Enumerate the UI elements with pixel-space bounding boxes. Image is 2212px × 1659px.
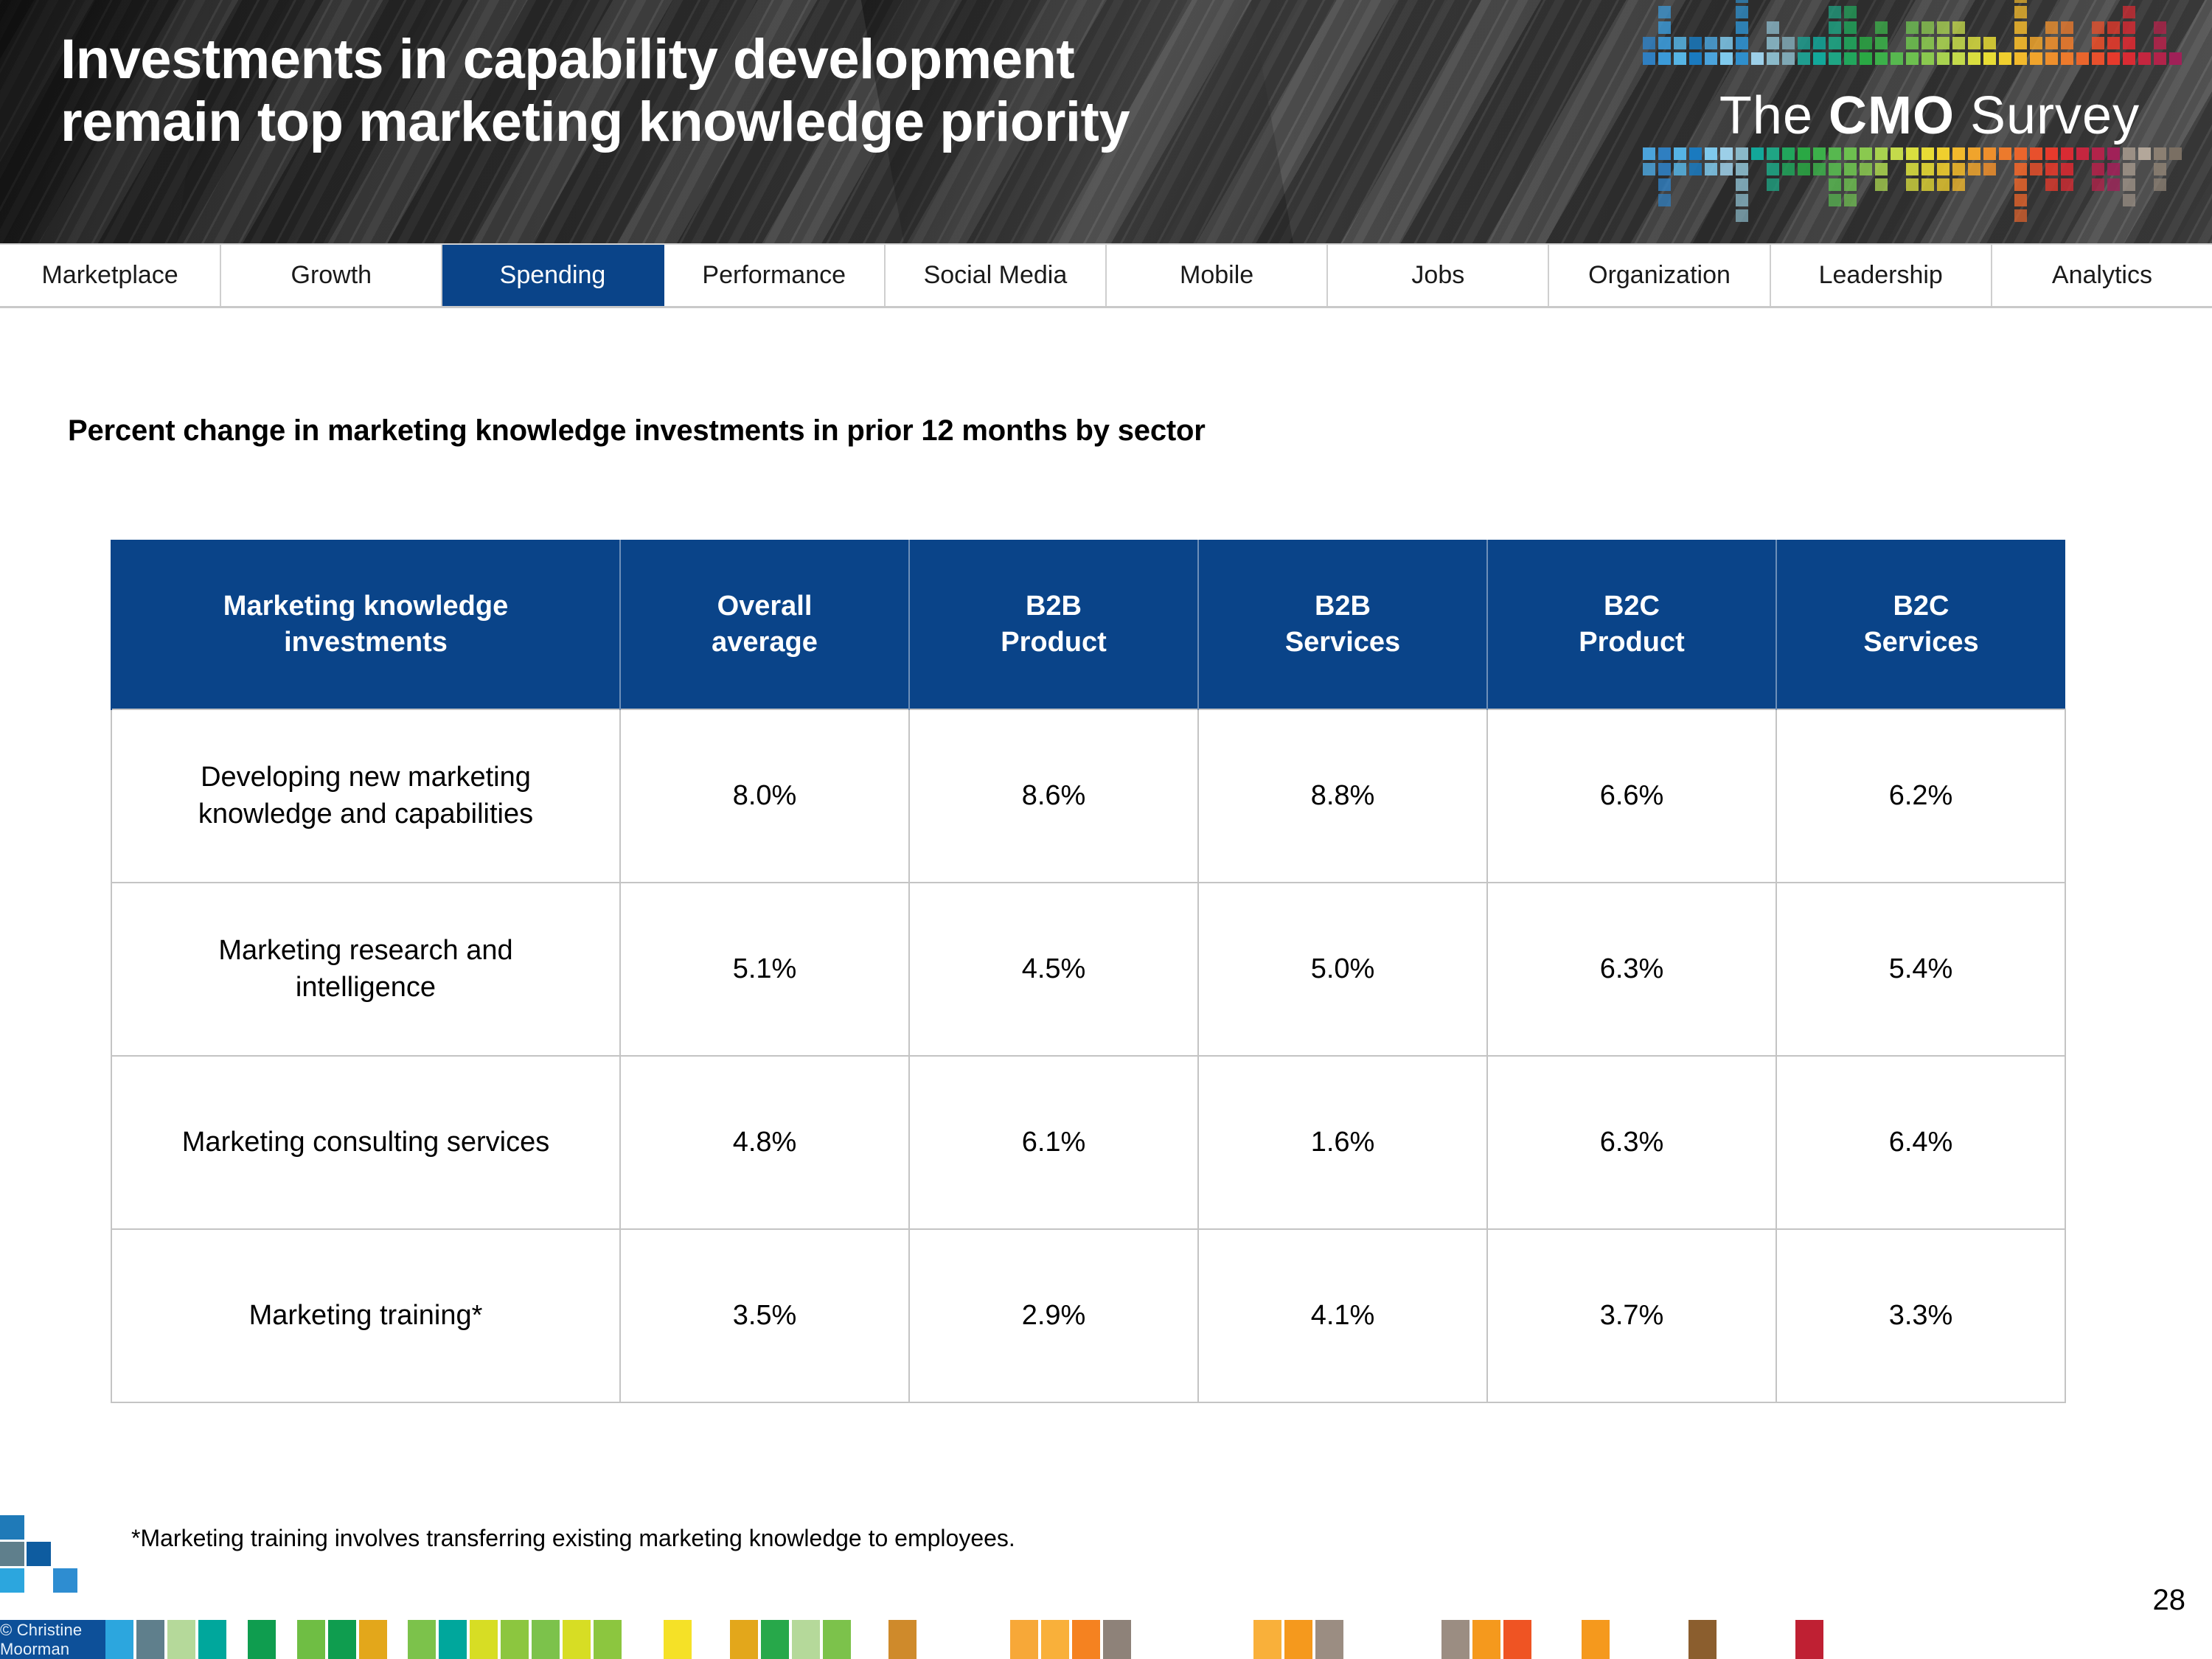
logo-pixel	[1658, 194, 1671, 206]
logo-pixel	[2092, 163, 2104, 175]
nav-tab-mobile[interactable]: Mobile	[1107, 245, 1328, 306]
logo-pixel	[1875, 21, 1888, 34]
logo-pixel	[1767, 178, 1779, 191]
table-cell-value: 3.7%	[1487, 1229, 1776, 1402]
logo-pixel	[2154, 21, 2166, 34]
logo-pixel	[1767, 163, 1779, 175]
color-bar-segment	[594, 1620, 622, 1659]
brand-square	[0, 1515, 24, 1540]
logo-pixel	[2154, 37, 2166, 49]
logo-pixel	[1658, 147, 1671, 160]
table-col-header-0: Marketing knowledge investments	[111, 540, 620, 709]
color-bar-segment	[501, 1620, 529, 1659]
logo-pixel	[1782, 163, 1795, 175]
table-row-label: Marketing consulting services	[111, 1056, 620, 1229]
logo-pixel	[1829, 178, 1841, 191]
nav-tab-marketplace[interactable]: Marketplace	[0, 245, 221, 306]
logo-pixel	[1736, 0, 1748, 3]
logo-pixel	[2092, 37, 2104, 49]
logo-pixel	[2045, 163, 2058, 175]
logo-pixel	[2045, 37, 2058, 49]
logo-pixel	[1891, 147, 1903, 160]
table-row: Marketing research and intelligence5.1%4…	[111, 883, 2065, 1056]
logo-pixel	[1736, 37, 1748, 49]
logo-pixel	[2030, 37, 2042, 49]
logo-pixel	[1689, 37, 1702, 49]
color-bar-segment	[408, 1620, 436, 1659]
logo-pixel	[1952, 21, 1965, 34]
logo-pixel	[1968, 163, 1980, 175]
logo-pixel	[1860, 147, 1872, 160]
logo-pixel	[1674, 37, 1686, 49]
logo-pixel	[1658, 6, 1671, 18]
logo-pixel	[1736, 178, 1748, 191]
copyright-badge: © Christine Moorman	[0, 1620, 105, 1659]
logo-pixel	[1829, 147, 1841, 160]
logo-pixel	[1875, 178, 1888, 191]
logo-pixel	[1720, 52, 1733, 65]
logo-pixel	[1829, 37, 1841, 49]
logo-pixel	[1906, 178, 1919, 191]
logo-pixel	[1844, 163, 1857, 175]
logo-pixel	[1736, 6, 1748, 18]
logo-pixel	[2076, 147, 2089, 160]
color-bar-segment	[1284, 1620, 1312, 1659]
nav-tab-label: Performance	[702, 261, 846, 290]
logo-pixel	[2014, 37, 2027, 49]
logo-pixel	[2123, 178, 2135, 191]
brand-square	[0, 1568, 24, 1593]
logo-pixel	[1906, 21, 1919, 34]
logo-pixel	[2107, 178, 2120, 191]
table-cell-value: 5.1%	[620, 883, 909, 1056]
color-bar-segment	[328, 1620, 356, 1659]
color-bar-segment	[359, 1620, 387, 1659]
logo-pixel	[1844, 37, 1857, 49]
logo-pixel	[1844, 194, 1857, 206]
color-bar-segment	[439, 1620, 467, 1659]
table-head: Marketing knowledge investmentsOverall a…	[111, 540, 2065, 709]
logo-pixel	[1860, 163, 1872, 175]
logo-pixel	[2169, 147, 2182, 160]
logo-pixel	[1689, 147, 1702, 160]
color-bar-segment	[1253, 1620, 1281, 1659]
color-bar-segment	[1472, 1620, 1500, 1659]
logo-pixel	[1705, 147, 1717, 160]
logo-pixel	[1674, 52, 1686, 65]
bottom-color-bar-decoration	[0, 1620, 2212, 1659]
logo-pixel	[1705, 37, 1717, 49]
color-bar-segment	[470, 1620, 498, 1659]
nav-tab-label: Marketplace	[42, 261, 178, 290]
color-bar-segment	[1103, 1620, 1131, 1659]
color-bar-segment	[1582, 1620, 1610, 1659]
brand-squares-decoration	[0, 1515, 103, 1618]
logo-pixel	[1658, 37, 1671, 49]
color-bar-segment	[1315, 1620, 1343, 1659]
logo-pixel	[1952, 178, 1965, 191]
nav-tab-label: Analytics	[2052, 261, 2152, 290]
logo-pixel	[2061, 52, 2073, 65]
nav-tab-jobs[interactable]: Jobs	[1328, 245, 1549, 306]
table-cell-value: 6.3%	[1487, 1056, 1776, 1229]
logo-pixel	[1875, 163, 1888, 175]
logo-pixel	[2014, 178, 2027, 191]
logo-pixel	[2061, 147, 2073, 160]
logo-pixel	[1813, 52, 1826, 65]
marketing-knowledge-investments-table: Marketing knowledge investmentsOverall a…	[111, 540, 2066, 1403]
logo-pixel	[2014, 163, 2027, 175]
logo-pixel	[1983, 163, 1996, 175]
color-bar-segment	[761, 1620, 789, 1659]
logo-pixel	[2030, 52, 2042, 65]
logo-pixel	[1658, 163, 1671, 175]
logo-pixel	[1921, 37, 1934, 49]
brand-square	[53, 1568, 77, 1593]
logo-pixel	[1983, 147, 1996, 160]
logo-pixel	[1798, 37, 1810, 49]
logo-pixel	[2092, 52, 2104, 65]
logo-pixel	[2123, 163, 2135, 175]
logo-pixel	[1937, 37, 1950, 49]
logo-pixel	[1999, 52, 2011, 65]
logo-pixel	[1798, 147, 1810, 160]
table-cell-value: 4.1%	[1198, 1229, 1487, 1402]
color-bar-segment	[664, 1620, 692, 1659]
table-cell-value: 6.1%	[909, 1056, 1198, 1229]
table-header-row: Marketing knowledge investmentsOverall a…	[111, 540, 2065, 709]
table-col-header-5: B2C Services	[1776, 540, 2065, 709]
logo-pixel	[2123, 21, 2135, 34]
logo-pixel	[1875, 37, 1888, 49]
logo-pixel	[2138, 52, 2151, 65]
logo-pixel	[1983, 52, 1996, 65]
color-bar-segment	[1688, 1620, 1717, 1659]
table-row-label: Marketing research and intelligence	[111, 883, 620, 1056]
table-row-label: Developing new marketing knowledge and c…	[111, 709, 620, 883]
logo-pixel	[2092, 147, 2104, 160]
logo-pixel	[1782, 37, 1795, 49]
table-col-header-3: B2B Services	[1198, 540, 1487, 709]
color-bar-segment	[823, 1620, 851, 1659]
nav-tab-analytics[interactable]: Analytics	[1992, 245, 2212, 306]
logo-pixel	[1952, 147, 1965, 160]
logo-wordmark: The CMO Survey	[1660, 86, 2199, 146]
logo-pixel	[1921, 147, 1934, 160]
color-bar-segment	[1441, 1620, 1470, 1659]
color-bar-segment	[730, 1620, 758, 1659]
footnote: *Marketing training involves transferrin…	[131, 1525, 1015, 1552]
logo-prefix: The	[1719, 86, 1829, 145]
color-bar-segment	[532, 1620, 560, 1659]
logo-pixel	[1937, 178, 1950, 191]
color-bar-segment	[792, 1620, 820, 1659]
nav-tab-label: Jobs	[1411, 261, 1464, 290]
color-bar-segment	[198, 1620, 226, 1659]
brand-square	[0, 1542, 24, 1566]
logo-pixel	[1658, 178, 1671, 191]
color-bar-segment	[248, 1620, 276, 1659]
logo-pixel	[2014, 147, 2027, 160]
logo-pixel	[1906, 52, 1919, 65]
logo-pixel	[1798, 52, 1810, 65]
color-bar-segment	[1795, 1620, 1823, 1659]
table-cell-value: 6.4%	[1776, 1056, 2065, 1229]
section-nav-tabs: MarketplaceGrowthSpendingPerformanceSoci…	[0, 243, 2212, 308]
table-cell-value: 3.3%	[1776, 1229, 2065, 1402]
logo-pixel	[1844, 52, 1857, 65]
table-cell-value: 5.4%	[1776, 883, 2065, 1056]
logo-pixel	[1736, 163, 1748, 175]
logo-pixel	[1705, 52, 1717, 65]
logo-pixel	[2123, 147, 2135, 160]
color-bar-segment	[1503, 1620, 1531, 1659]
logo-pixel	[1844, 21, 1857, 34]
table-cell-value: 4.5%	[909, 883, 1198, 1056]
logo-pixel	[2092, 21, 2104, 34]
logo-pixel	[1643, 147, 1655, 160]
color-bar-segment	[105, 1620, 133, 1659]
table-cell-value: 2.9%	[909, 1229, 1198, 1402]
nav-tab-label: Leadership	[1819, 261, 1943, 290]
logo-pixel	[1720, 147, 1733, 160]
logo-pixel	[1829, 52, 1841, 65]
logo-pixel	[2107, 21, 2120, 34]
cmo-survey-logo: The CMO Survey	[1643, 3, 2203, 239]
logo-pixel	[1829, 21, 1841, 34]
logo-pixel	[1736, 147, 1748, 160]
header-banner: Investments in capability development re…	[0, 0, 2212, 243]
logo-pixel	[1767, 147, 1779, 160]
color-bar-segment	[1010, 1620, 1038, 1659]
table-cell-value: 6.2%	[1776, 709, 2065, 883]
logo-pixel	[2014, 6, 2027, 18]
logo-pixel	[1937, 147, 1950, 160]
logo-pixel	[2123, 52, 2135, 65]
color-bar-segment	[1041, 1620, 1069, 1659]
table-cell-value: 5.0%	[1198, 883, 1487, 1056]
logo-pixel	[1875, 147, 1888, 160]
logo-pixel	[2061, 21, 2073, 34]
logo-pixel	[1736, 209, 1748, 222]
logo-pixel	[2045, 147, 2058, 160]
logo-pixel	[2154, 52, 2166, 65]
logo-pixel	[2169, 52, 2182, 65]
logo-pixel	[2014, 0, 2027, 3]
table-col-header-2: B2B Product	[909, 540, 1198, 709]
logo-pixel	[2030, 163, 2042, 175]
color-bar-segment	[563, 1620, 591, 1659]
logo-pixel	[1767, 52, 1779, 65]
logo-pixel	[2061, 178, 2073, 191]
logo-pixel	[1813, 163, 1826, 175]
logo-pixel	[2061, 37, 2073, 49]
logo-pixel	[1720, 163, 1733, 175]
logo-pixel	[1782, 52, 1795, 65]
logo-pixel	[1906, 147, 1919, 160]
logo-pixel	[1860, 52, 1872, 65]
logo-pixel	[1813, 37, 1826, 49]
logo-pixel	[1844, 147, 1857, 160]
logo-pixel	[1844, 178, 1857, 191]
logo-pixel	[2076, 52, 2089, 65]
logo-pixel	[1829, 163, 1841, 175]
logo-pixel	[2123, 194, 2135, 206]
logo-pixel	[1921, 21, 1934, 34]
logo-pixel	[1952, 37, 1965, 49]
logo-pixel	[1751, 147, 1764, 160]
logo-pixel	[1875, 52, 1888, 65]
logo-pixel	[1798, 163, 1810, 175]
table-cell-value: 8.0%	[620, 709, 909, 883]
logo-pixel	[2014, 21, 2027, 34]
logo-suffix: Survey	[1955, 86, 2140, 145]
logo-pixel	[1813, 147, 1826, 160]
table-row-label: Marketing training*	[111, 1229, 620, 1402]
nav-tab-organization[interactable]: Organization	[1549, 245, 1770, 306]
color-bar-segment	[888, 1620, 917, 1659]
logo-pixel	[1952, 52, 1965, 65]
nav-tab-label: Spending	[500, 261, 606, 290]
color-bar-segment	[136, 1620, 164, 1659]
logo-pixel	[1968, 147, 1980, 160]
logo-pixel	[2092, 178, 2104, 191]
logo-pixel	[1767, 21, 1779, 34]
chart-subtitle: Percent change in marketing knowledge in…	[68, 414, 1206, 448]
logo-pixel	[1906, 37, 1919, 49]
color-bar-segment	[1072, 1620, 1100, 1659]
logo-pixel	[1705, 163, 1717, 175]
logo-pixel	[1720, 37, 1733, 49]
logo-pixel	[1736, 21, 1748, 34]
nav-tab-leadership[interactable]: Leadership	[1771, 245, 1992, 306]
table-cell-value: 4.8%	[620, 1056, 909, 1229]
table-cell-value: 3.5%	[620, 1229, 909, 1402]
color-bar-segment	[297, 1620, 325, 1659]
logo-pixel	[1643, 163, 1655, 175]
table-row: Marketing training*3.5%2.9%4.1%3.7%3.3%	[111, 1229, 2065, 1402]
logo-pixel	[1983, 37, 1996, 49]
logo-pixel	[2061, 163, 2073, 175]
logo-pixel	[1643, 37, 1655, 49]
nav-tab-spending[interactable]: Spending	[442, 245, 664, 306]
logo-pixel	[2107, 52, 2120, 65]
logo-pixel	[1937, 163, 1950, 175]
table-cell-value: 1.6%	[1198, 1056, 1487, 1229]
logo-pixel	[1736, 52, 1748, 65]
nav-tab-performance[interactable]: Performance	[664, 245, 886, 306]
logo-pixel	[2014, 194, 2027, 206]
table-cell-value: 8.6%	[909, 709, 1198, 883]
table-row: Marketing consulting services4.8%6.1%1.6…	[111, 1056, 2065, 1229]
nav-tab-label: Social Media	[924, 261, 1068, 290]
logo-pixel	[2014, 52, 2027, 65]
logo-pixel	[1921, 178, 1934, 191]
brand-square	[27, 1542, 51, 1566]
logo-pixel	[1937, 52, 1950, 65]
nav-tab-label: Organization	[1588, 261, 1731, 290]
logo-pixel	[2030, 147, 2042, 160]
logo-pixel	[2107, 37, 2120, 49]
table-col-header-4: B2C Product	[1487, 540, 1776, 709]
logo-pixel	[1782, 147, 1795, 160]
table-cell-value: 6.3%	[1487, 883, 1776, 1056]
logo-pixel	[2014, 209, 2027, 222]
page-number: 28	[2153, 1584, 2186, 1617]
nav-tab-social-media[interactable]: Social Media	[886, 245, 1107, 306]
logo-pixel	[1829, 6, 1841, 18]
logo-pixel	[2107, 147, 2120, 160]
logo-pixel	[1860, 37, 1872, 49]
logo-pixel	[1736, 194, 1748, 206]
logo-pixel	[1689, 163, 1702, 175]
nav-tab-label: Mobile	[1180, 261, 1253, 290]
logo-pixel	[1689, 52, 1702, 65]
logo-pixel	[1921, 52, 1934, 65]
nav-tab-label: Growth	[291, 261, 372, 290]
logo-pixel	[2107, 163, 2120, 175]
table-cell-value: 8.8%	[1198, 709, 1487, 883]
page-title: Investments in capability development re…	[60, 28, 1535, 153]
logo-pixel	[2045, 178, 2058, 191]
logo-pixel	[2154, 147, 2166, 160]
logo-pixel	[1674, 163, 1686, 175]
logo-pixel	[1674, 147, 1686, 160]
logo-pixel	[1643, 52, 1655, 65]
color-bar-segment	[167, 1620, 195, 1659]
logo-pixel	[2123, 6, 2135, 18]
logo-pixel	[1999, 147, 2011, 160]
logo-pixel	[1921, 163, 1934, 175]
table-cell-value: 6.6%	[1487, 709, 1776, 883]
logo-pixel	[1751, 52, 1764, 65]
logo-pixel	[1952, 163, 1965, 175]
logo-pixel	[2154, 178, 2166, 191]
logo-pixel	[1937, 21, 1950, 34]
nav-tab-growth[interactable]: Growth	[221, 245, 442, 306]
table-col-header-1: Overall average	[620, 540, 909, 709]
logo-pixel	[1658, 52, 1671, 65]
logo-pixel	[1767, 37, 1779, 49]
table-body: Developing new marketing knowledge and c…	[111, 709, 2065, 1402]
logo-pixel	[1906, 163, 1919, 175]
logo-pixel	[1891, 52, 1903, 65]
logo-pixel-strip-top	[1643, 3, 2203, 68]
logo-pixel	[2154, 163, 2166, 175]
logo-pixel	[2123, 37, 2135, 49]
logo-brand: CMO	[1829, 86, 1955, 145]
logo-pixel	[1844, 6, 1857, 18]
logo-pixel	[1968, 52, 1980, 65]
logo-pixel	[2138, 147, 2151, 160]
table-row: Developing new marketing knowledge and c…	[111, 709, 2065, 883]
logo-pixel	[1829, 194, 1841, 206]
logo-pixel	[2045, 21, 2058, 34]
logo-pixel	[1658, 21, 1671, 34]
logo-pixel	[1968, 37, 1980, 49]
logo-pixel	[2045, 52, 2058, 65]
logo-pixel-strip-bottom	[1643, 147, 2203, 212]
